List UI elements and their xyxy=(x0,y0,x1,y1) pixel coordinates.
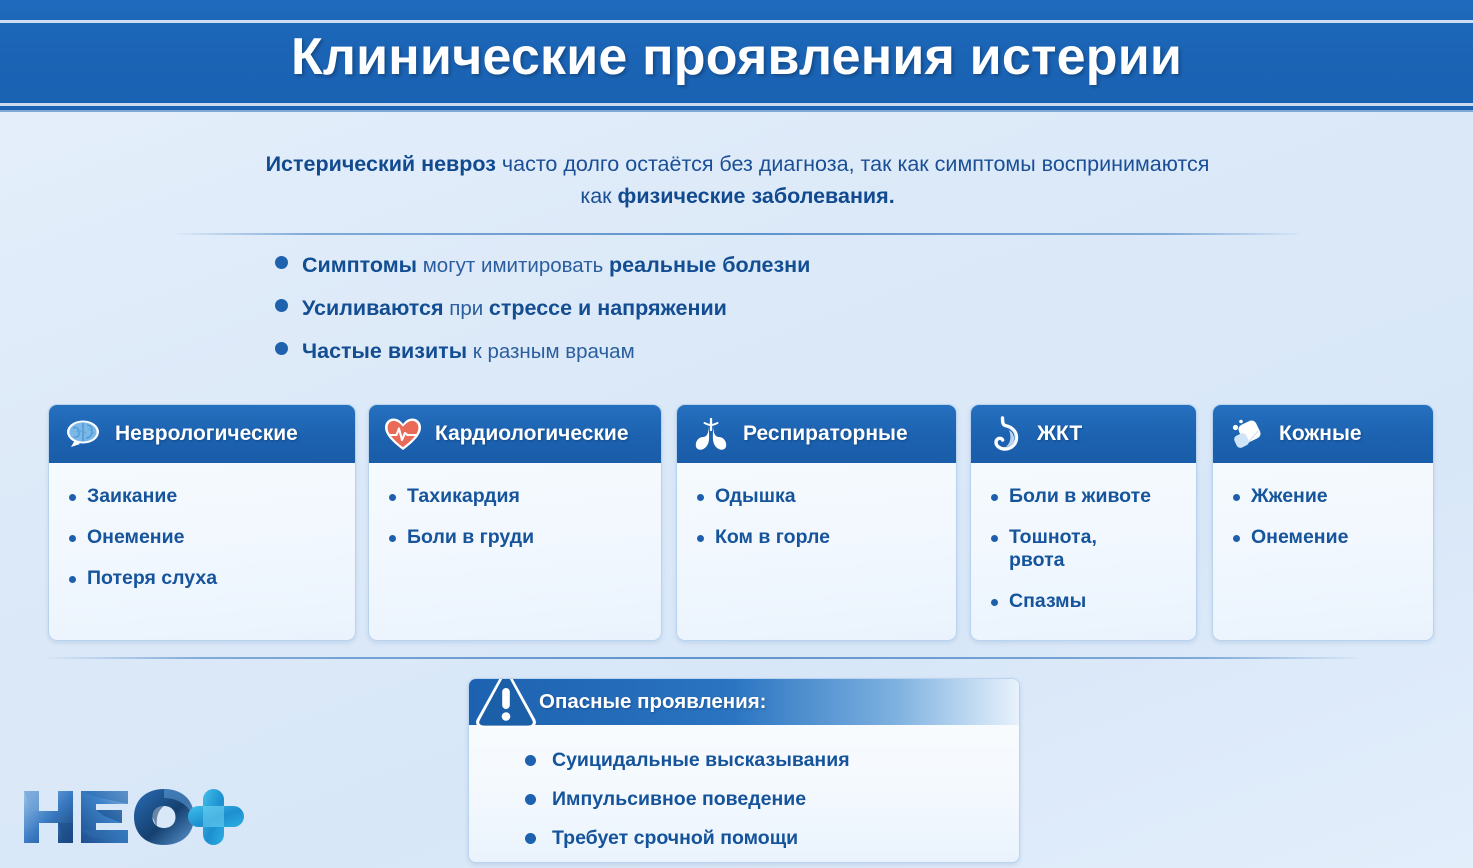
card-list-item: Онемение xyxy=(1233,526,1417,549)
card-list-item: Жжение xyxy=(1233,485,1417,508)
card-item-label: Онемение xyxy=(1251,526,1348,549)
key-point-bold-1: Частые визиты xyxy=(302,339,467,363)
subtitle-bold-tail: физические заболевания. xyxy=(618,184,895,208)
bullet-dot-icon xyxy=(69,494,76,501)
lungs-icon xyxy=(691,414,731,454)
card-item-label: Спазмы xyxy=(1009,590,1086,613)
brain-icon xyxy=(63,414,103,454)
header-rule-bottom-secondary xyxy=(0,110,1473,112)
card-list-item: Ком в горле xyxy=(697,526,940,549)
card-header: Респираторные xyxy=(677,405,956,463)
danger-list-item: Требует срочной помощи xyxy=(525,819,1019,858)
key-point-row: Частые визиты к разным врачам xyxy=(275,339,810,382)
danger-item-label: Требует срочной помощи xyxy=(552,827,798,850)
subtitle-bold-lead: Истерический невроз xyxy=(266,152,496,176)
danger-item-label: Импульсивное поведение xyxy=(552,788,806,811)
bullet-dot-icon xyxy=(697,494,704,501)
card-title: Кардиологические xyxy=(435,422,629,446)
bullet-dot-icon xyxy=(1233,535,1240,542)
card-item-label: Тошнота, рвота xyxy=(1009,526,1097,572)
bullet-dot-icon xyxy=(991,599,998,606)
key-point-bold-2: реальные болезни xyxy=(609,253,810,277)
card-body: Тахикардия Боли в груди xyxy=(369,463,661,549)
card-header: Кардиологические xyxy=(369,405,661,463)
card-body: Одышка Ком в горле xyxy=(677,463,956,549)
section-divider xyxy=(48,657,1358,659)
danger-item-label: Суицидальные высказывания xyxy=(552,749,850,772)
key-point-middle: к разным врачам xyxy=(467,340,635,363)
bullet-dot-icon xyxy=(69,576,76,583)
card-body: Боли в животе Тошнота, рвота Спазмы xyxy=(971,463,1196,613)
stomach-icon xyxy=(985,414,1025,454)
card-title: ЖКТ xyxy=(1037,422,1082,446)
danger-list-item: Суицидальные высказывания xyxy=(525,741,1019,780)
bullet-dot-icon xyxy=(275,299,288,312)
key-point-text: Симптомы могут имитировать реальные боле… xyxy=(302,253,810,278)
card-header: ЖКТ xyxy=(971,405,1196,463)
card-title: Респираторные xyxy=(743,422,908,446)
card-respiratory: Респираторные Одышка Ком в горле xyxy=(676,404,957,641)
bullet-dot-icon xyxy=(275,256,288,269)
warning-triangle-icon xyxy=(469,678,543,733)
danger-panel-header: Опасные проявления: xyxy=(469,679,1019,725)
card-list-item: Боли в груди xyxy=(389,526,645,549)
card-list-item: Одышка xyxy=(697,485,940,508)
header-rule-bottom xyxy=(0,103,1473,106)
card-item-label: Тахикардия xyxy=(407,485,520,508)
key-point-middle: при xyxy=(444,297,489,320)
card-list-item: Боли в животе xyxy=(991,485,1180,508)
bullet-dot-icon xyxy=(525,833,536,844)
key-point-bold-1: Усиливаются xyxy=(302,296,444,320)
subtitle-divider xyxy=(175,233,1300,235)
subtitle-text: Истерический невроз часто долго остаётся… xyxy=(150,148,1325,212)
card-item-label: Заикание xyxy=(87,485,177,508)
subtitle-body-1: часто долго остаётся без диагноза, так к… xyxy=(496,152,1209,176)
card-title: Кожные xyxy=(1279,422,1362,446)
heart-ecg-icon xyxy=(383,414,423,454)
danger-panel-title: Опасные проявления: xyxy=(539,690,767,714)
card-dermatological: Кожные Жжение Онемение xyxy=(1212,404,1434,641)
header-rule-top xyxy=(0,20,1473,23)
bullet-dot-icon xyxy=(275,342,288,355)
card-item-label: Одышка xyxy=(715,485,796,508)
card-neurological: Неврологические Заикание Онемение Потеря… xyxy=(48,404,356,641)
bullet-dot-icon xyxy=(697,535,704,542)
danger-list-item: Импульсивное поведение xyxy=(525,780,1019,819)
danger-panel: Опасные проявления: Суицидальные высказы… xyxy=(468,678,1020,863)
bullet-dot-icon xyxy=(525,755,536,766)
key-point-bold-1: Симптомы xyxy=(302,253,417,277)
key-point-text: Частые визиты к разным врачам xyxy=(302,339,635,364)
card-item-label: Боли в животе xyxy=(1009,485,1151,508)
bullet-dot-icon xyxy=(991,535,998,542)
card-item-label: Ком в горле xyxy=(715,526,830,549)
bullet-dot-icon xyxy=(991,494,998,501)
key-points-list: Симптомы могут имитировать реальные боле… xyxy=(275,253,810,382)
card-item-label: Боли в груди xyxy=(407,526,534,549)
card-item-label: Потеря слуха xyxy=(87,567,217,590)
key-point-row: Симптомы могут имитировать реальные боле… xyxy=(275,253,810,296)
bullet-dot-icon xyxy=(525,794,536,805)
key-point-bold-2: стрессе и напряжении xyxy=(489,296,727,320)
skin-patch-icon xyxy=(1227,414,1267,454)
card-cardiological: Кардиологические Тахикардия Боли в груди xyxy=(368,404,662,641)
card-body: Жжение Онемение xyxy=(1213,463,1433,549)
card-list-item: Тошнота, рвота xyxy=(991,526,1180,572)
bullet-dot-icon xyxy=(389,494,396,501)
card-title: Неврологические xyxy=(115,422,298,446)
key-point-text: Усиливаются при стрессе и напряжении xyxy=(302,296,727,321)
brand-logo xyxy=(18,785,252,849)
bullet-dot-icon xyxy=(69,535,76,542)
subtitle-body-2: как xyxy=(580,184,617,208)
card-list-item: Тахикардия xyxy=(389,485,645,508)
bullet-dot-icon xyxy=(389,535,396,542)
card-list-item: Потеря слуха xyxy=(69,567,339,590)
danger-panel-body: Суицидальные высказывания Импульсивное п… xyxy=(469,725,1019,858)
key-point-row: Усиливаются при стрессе и напряжении xyxy=(275,296,810,339)
card-list-item: Спазмы xyxy=(991,590,1180,613)
card-item-label: Жжение xyxy=(1251,485,1328,508)
card-header: Неврологические xyxy=(49,405,355,463)
bullet-dot-icon xyxy=(1233,494,1240,501)
infographic-poster: Клинические проявления истерии Истеричес… xyxy=(0,0,1473,868)
card-list-item: Онемение xyxy=(69,526,339,549)
card-list-item: Заикание xyxy=(69,485,339,508)
key-point-middle: могут имитировать xyxy=(417,254,609,277)
card-gastrointestinal: ЖКТ Боли в животе Тошнота, рвота Спазмы xyxy=(970,404,1197,641)
page-title: Клинические проявления истерии xyxy=(0,27,1473,87)
card-header: Кожные xyxy=(1213,405,1433,463)
card-body: Заикание Онемение Потеря слуха xyxy=(49,463,355,590)
card-item-label: Онемение xyxy=(87,526,184,549)
